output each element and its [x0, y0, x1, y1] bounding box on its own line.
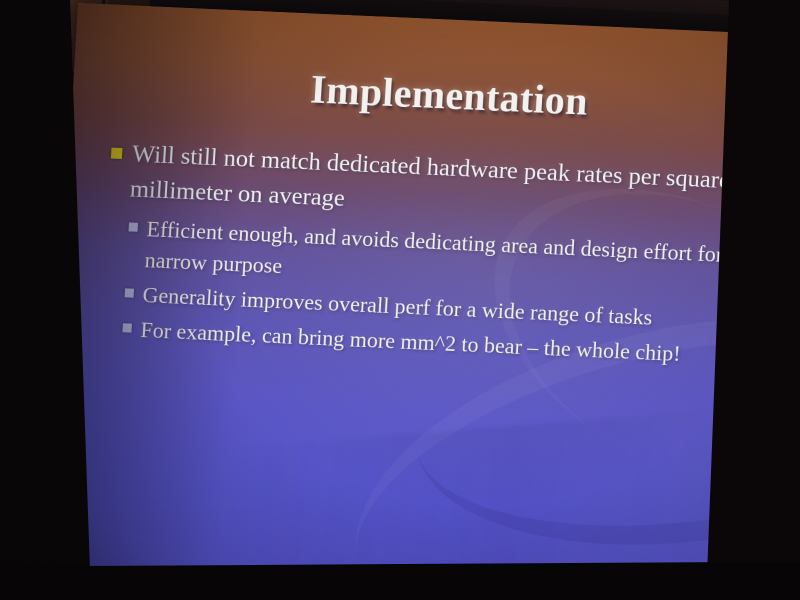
bullet-list: Will still not match dedicated hardware … — [99, 137, 783, 378]
square-bullet-icon — [111, 148, 123, 159]
slide-background: Implementation Will still not match dedi… — [44, 3, 800, 600]
photo-of-projection-screen: Implementation Will still not match dedi… — [0, 0, 800, 600]
square-bullet-icon — [125, 288, 135, 297]
slide-title: Implementation — [72, 55, 800, 135]
dark-surround-bottom — [0, 561, 800, 600]
square-bullet-icon — [122, 324, 132, 333]
slide-content: Implementation Will still not match dedi… — [44, 3, 800, 600]
projected-slide: Implementation Will still not match dedi… — [44, 3, 800, 600]
square-bullet-icon — [129, 222, 139, 231]
